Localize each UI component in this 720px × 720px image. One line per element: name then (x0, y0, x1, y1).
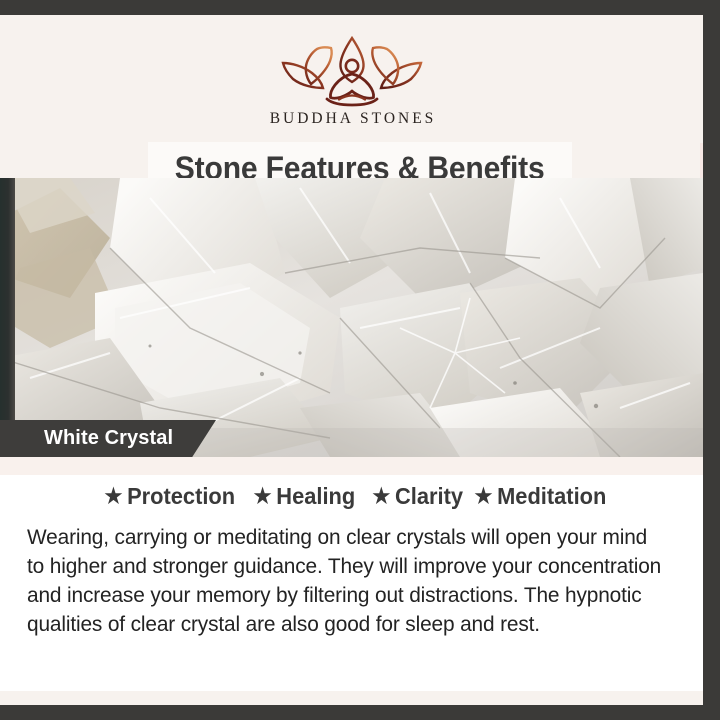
content-area: ★ Protection ★ Healing ★ Clarity ★ Medit… (0, 457, 703, 705)
description-text: Wearing, carrying or meditating on clear… (27, 523, 667, 639)
content-bottom-strip (0, 691, 703, 705)
star-icon: ★ (372, 486, 390, 507)
star-icon: ★ (105, 486, 123, 507)
photo-left-shadow (0, 178, 15, 457)
caption-label: White Crystal (44, 420, 173, 457)
star-icon: ★ (475, 486, 493, 507)
benefit-item-meditation: ★ Meditation (475, 483, 607, 510)
content-top-strip (0, 457, 703, 475)
benefit-item-healing: ★ Healing (253, 483, 355, 510)
star-icon: ★ (253, 486, 271, 507)
benefits-row: ★ Protection ★ Healing ★ Clarity ★ Medit… (0, 483, 703, 510)
benefit-label: Healing (276, 483, 355, 510)
page-surface: BUDDHA STONES Stone Features & Benefits (0, 15, 703, 705)
benefit-item-clarity: ★ Clarity (372, 483, 463, 510)
brand-wordmark: BUDDHA STONES (267, 110, 437, 128)
photo-caption: White Crystal (0, 420, 216, 457)
poster-root: BUDDHA STONES Stone Features & Benefits (0, 0, 720, 720)
benefit-label: Meditation (497, 483, 606, 510)
lotus-meditation-figure-icon (277, 33, 427, 107)
benefit-item-protection: ★ Protection (105, 483, 236, 510)
crystal-photo-image (0, 178, 703, 457)
benefit-label: Protection (127, 483, 235, 510)
crystal-photo (0, 178, 703, 457)
benefit-label: Clarity (395, 483, 463, 510)
brand-logo: BUDDHA STONES (0, 33, 703, 128)
header: BUDDHA STONES (0, 15, 703, 143)
